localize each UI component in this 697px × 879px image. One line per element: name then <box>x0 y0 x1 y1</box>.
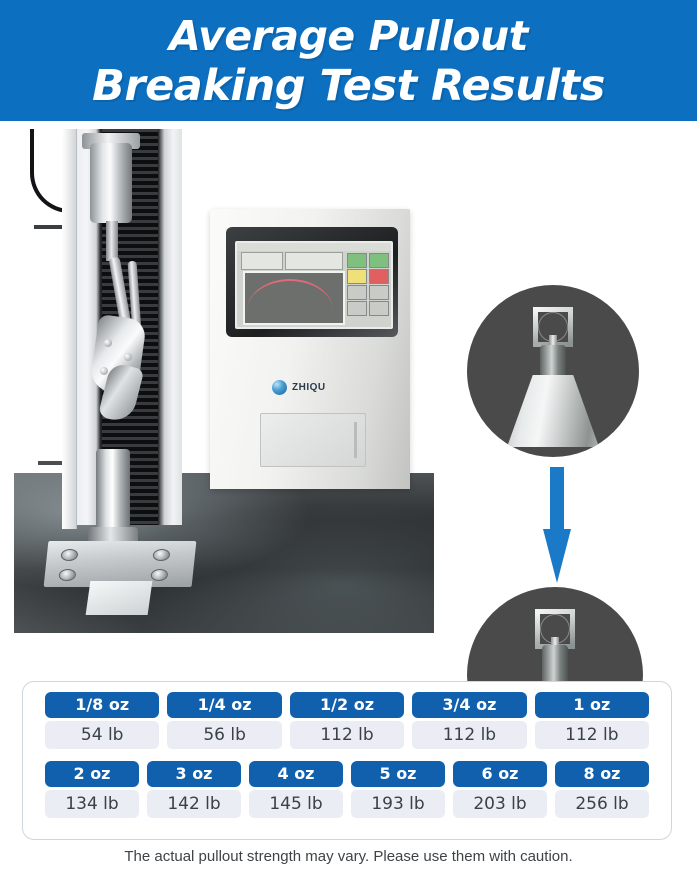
touchscreen-display[interactable] <box>235 241 393 329</box>
screen-key-yellow[interactable] <box>347 269 367 284</box>
base-plate-bolt-2 <box>152 549 170 561</box>
upper-grip-rod <box>106 221 118 261</box>
size-cell: 3 oz <box>147 761 241 787</box>
page-title-line-2: Breaking Test Results <box>92 61 605 111</box>
sinker-barrel-bottom <box>542 645 568 685</box>
strength-cell: 134 lb <box>45 790 139 818</box>
pliers-rivet-3 <box>100 367 108 375</box>
screen-key-green-2[interactable] <box>369 253 389 268</box>
size-cell: 1 oz <box>535 692 649 718</box>
strength-cell: 203 lb <box>453 790 547 818</box>
locking-pliers <box>80 257 150 447</box>
results-table: 1/8 oz 1/4 oz 1/2 oz 3/4 oz 1 oz 54 lb 5… <box>22 681 672 840</box>
brand-logo: ZHIQU <box>272 377 352 397</box>
header-banner: Average Pullout Breaking Test Results <box>0 0 697 121</box>
sinker-before-photo <box>467 285 639 457</box>
screen-key-2[interactable] <box>369 285 389 300</box>
size-cell: 4 oz <box>249 761 343 787</box>
table-row-sizes-1: 1/8 oz 1/4 oz 1/2 oz 3/4 oz 1 oz <box>45 692 649 718</box>
base-plate-bolt-4 <box>150 569 168 581</box>
brand-name: ZHIQU <box>292 382 326 393</box>
size-cell: 1/8 oz <box>45 692 159 718</box>
cabinet-drawer[interactable] <box>260 413 366 467</box>
strength-cell: 193 lb <box>351 790 445 818</box>
arrow-shaft <box>550 467 564 535</box>
strength-cell: 112 lb <box>412 721 526 749</box>
pliers-rivet-2 <box>124 353 132 361</box>
size-cell: 1/2 oz <box>290 692 404 718</box>
sample-card <box>86 581 153 615</box>
size-cell: 5 oz <box>351 761 445 787</box>
screen-key-1[interactable] <box>347 285 367 300</box>
pliers-rivet-1 <box>104 339 112 347</box>
size-cell: 8 oz <box>555 761 649 787</box>
photo-area: ZHIQU <box>0 121 697 661</box>
touchscreen-bezel <box>226 227 398 337</box>
strength-cell: 142 lb <box>147 790 241 818</box>
strength-cell: 145 lb <box>249 790 343 818</box>
size-cell: 1/4 oz <box>167 692 281 718</box>
strength-cell: 256 lb <box>555 790 649 818</box>
sinker-barrel-top <box>540 345 566 377</box>
strength-cell: 56 lb <box>167 721 281 749</box>
screen-field-2 <box>285 252 343 270</box>
base-plate-bolt-3 <box>58 569 76 581</box>
table-row-sizes-2: 2 oz 3 oz 4 oz 5 oz 6 oz 8 oz <box>45 761 649 787</box>
size-cell: 3/4 oz <box>412 692 526 718</box>
brand-globe-icon <box>272 380 287 395</box>
screen-key-red[interactable] <box>369 269 389 284</box>
screen-field-1 <box>241 252 283 270</box>
disclaimer-text: The actual pullout strength may vary. Pl… <box>0 848 697 865</box>
sinker-cone-top <box>507 375 599 447</box>
controller-cabinet: ZHIQU <box>210 209 410 489</box>
size-cell: 2 oz <box>45 761 139 787</box>
screen-key-3[interactable] <box>347 301 367 316</box>
screen-titlebar <box>237 243 391 251</box>
arrow-head <box>543 529 571 583</box>
machine-column-edge <box>62 129 77 529</box>
down-arrow-icon <box>543 467 571 583</box>
strength-cell: 54 lb <box>45 721 159 749</box>
screen-key-4[interactable] <box>369 301 389 316</box>
size-cell: 6 oz <box>453 761 547 787</box>
table-row-strengths-1: 54 lb 56 lb 112 lb 112 lb 112 lb <box>45 721 649 749</box>
strength-cell: 112 lb <box>535 721 649 749</box>
base-plate-bolt-1 <box>60 549 78 561</box>
page-title-line-1: Average Pullout <box>169 11 528 61</box>
testing-machine-photo: ZHIQU <box>14 129 434 657</box>
screen-key-green-1[interactable] <box>347 253 367 268</box>
table-row-strengths-2: 134 lb 142 lb 145 lb 193 lb 203 lb 256 l… <box>45 790 649 818</box>
strength-cell: 112 lb <box>290 721 404 749</box>
lower-grip <box>96 449 130 533</box>
load-cell <box>90 143 132 223</box>
